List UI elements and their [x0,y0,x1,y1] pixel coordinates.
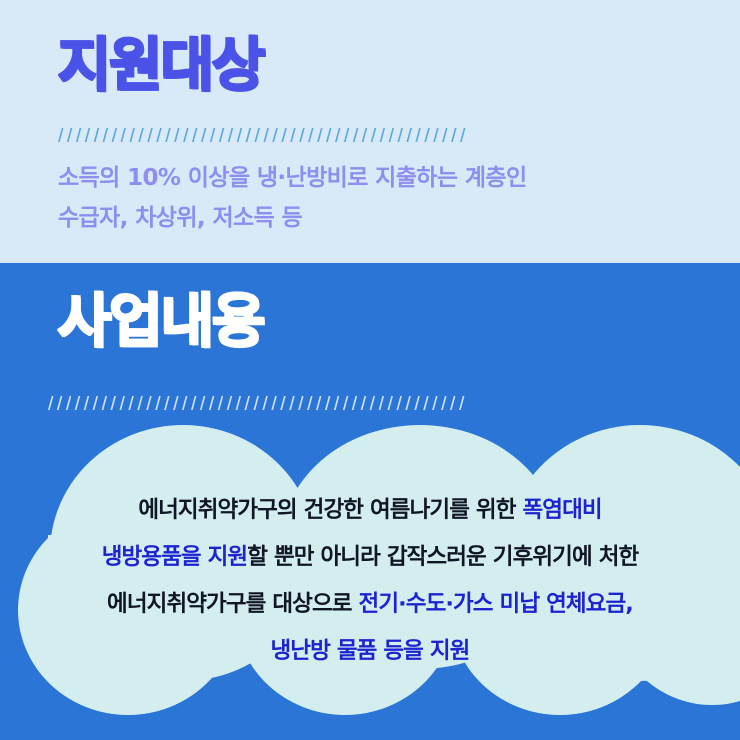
section-support-description: 소득의 10% 이상을 냉·난방비로 지출하는 계층인 수급자, 차상위, 저소… [58,158,698,238]
divider-slash-row: ////////////////////////////////////////… [58,128,668,144]
infographic-poster: 지원대상 ///////////////////////////////////… [0,0,740,740]
body-line-2: 냉방용품을 지원할 뿐만 아니라 갑작스러운 기후위기에 처한 [0,534,740,581]
divider-slashes-top: ////////////////////////////////////////… [58,128,668,144]
divider-slash-row: ////////////////////////////////////////… [48,396,673,412]
body-segment-highlight: 전기·수도·가스 미납 연체요금, [359,591,633,617]
divider-slashes-bottom: ////////////////////////////////////////… [48,396,673,412]
section-support-target: 지원대상 ///////////////////////////////////… [0,0,740,263]
section-support-title: 지원대상 [58,34,263,96]
body-segment: 에너지취약가구를 대상으로 [107,591,358,617]
body-segment-highlight: 폭염대비 [522,497,601,523]
body-line-1: 에너지취약가구의 건강한 여름나기를 위한 폭염대비 [0,487,740,534]
body-segment: 에너지취약가구의 건강한 여름나기를 위한 [138,497,522,523]
body-line-3: 에너지취약가구를 대상으로 전기·수도·가스 미납 연체요금, [0,581,740,628]
body-segment-highlight: 냉난방 물품 등을 지원 [270,638,469,664]
body-line-4: 냉난방 물품 등을 지원 [0,628,740,675]
body-segment: 할 뿐만 아니라 갑작스러운 기후위기에 처한 [247,544,638,570]
section-program-body: 에너지취약가구의 건강한 여름나기를 위한 폭염대비 냉방용품을 지원할 뿐만 … [0,487,740,675]
body-segment-highlight: 냉방용품을 지원 [102,544,248,570]
section-program-title: 사업내용 [58,290,263,352]
